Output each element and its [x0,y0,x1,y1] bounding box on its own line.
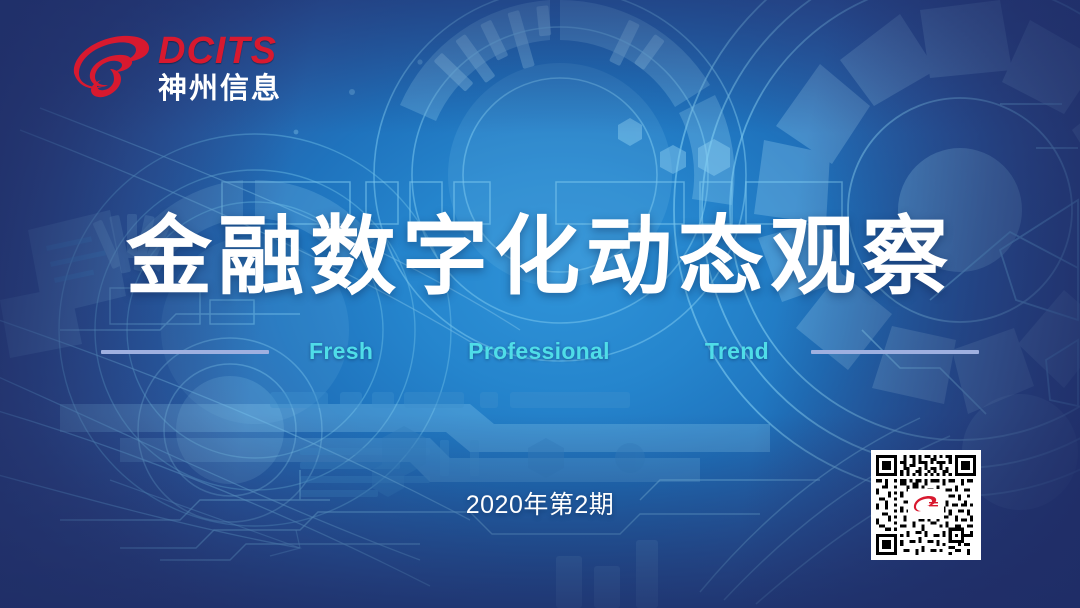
tagline-word-professional: Professional [468,338,610,365]
qr-code-matrix [876,455,976,555]
qr-code[interactable] [871,450,981,560]
tagline-row: Fresh Professional Trend [0,338,1080,365]
title-slide: DCITS 神州信息 金融数字化动态观察 Fresh Professional … [0,0,1080,608]
tagline-word-trend: Trend [705,338,769,365]
qr-center-logo-icon [908,489,944,519]
logo-english-text: DCITS [158,32,282,70]
tagline-rule-left [101,350,269,354]
slide-title: 金融数字化动态观察 [0,186,1080,311]
dcits-swirl-icon [66,29,152,103]
tagline-word-fresh: Fresh [309,338,373,365]
logo-chinese-text: 神州信息 [158,75,282,104]
logo-wordmark: DCITS 神州信息 [158,28,282,104]
brand-logo: DCITS 神州信息 [66,28,282,104]
tagline-rule-right [811,350,979,354]
